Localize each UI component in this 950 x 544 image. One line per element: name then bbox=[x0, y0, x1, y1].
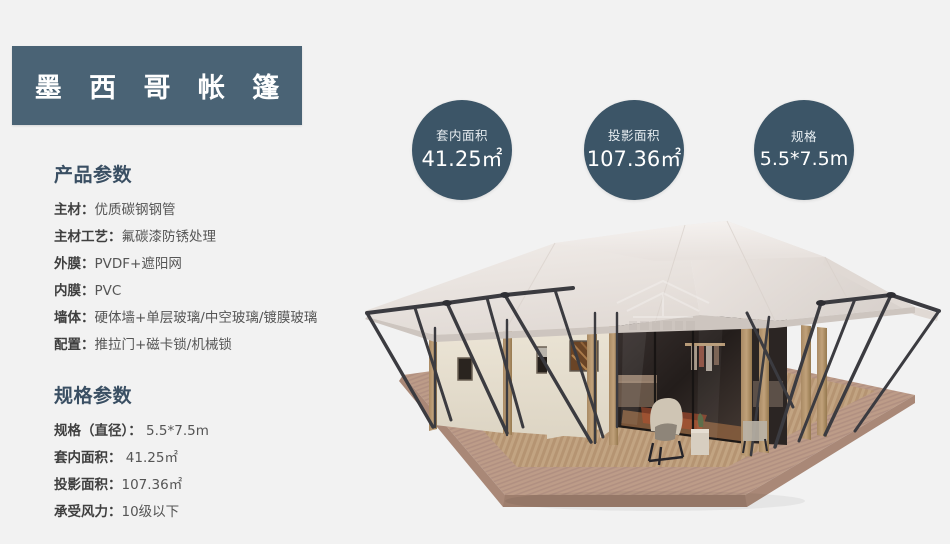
param-label: 承受风力： bbox=[54, 504, 122, 520]
param-value: PVC bbox=[95, 283, 122, 299]
param-value: 推拉门+磁卡锁/机械锁 bbox=[95, 337, 232, 353]
param-value: 优质碳钢钢管 bbox=[95, 202, 176, 218]
param-row: 墙体：硬体墙+单层玻璃/中空玻璃/镀膜玻璃 bbox=[54, 305, 364, 332]
param-label: 配置： bbox=[54, 337, 95, 353]
param-row: 内膜：PVC bbox=[54, 278, 364, 305]
param-label: 套内面积： bbox=[54, 450, 122, 466]
stat-badge-label: 规格 bbox=[791, 131, 817, 144]
stat-badge-dimensions: 规格 5.5*7.5m bbox=[754, 100, 854, 200]
param-value: 107.36㎡ bbox=[122, 477, 183, 493]
title-banner: 墨 西 哥 帐 篷 bbox=[12, 46, 302, 125]
stat-badge-value: 5.5*7.5m bbox=[760, 150, 848, 169]
page-title: 墨 西 哥 帐 篷 bbox=[26, 66, 289, 105]
param-label: 外膜： bbox=[54, 256, 95, 272]
stat-badge-label: 投影面积 bbox=[608, 130, 660, 143]
param-value: 10级以下 bbox=[122, 504, 180, 520]
param-row: 规格（直径）： 5.5*7.5m bbox=[54, 418, 364, 445]
param-value: PVDF+遮阳网 bbox=[95, 256, 182, 272]
param-row: 套内面积： 41.25㎡ bbox=[54, 445, 364, 472]
param-label: 主材工艺： bbox=[54, 229, 122, 245]
param-row: 外膜：PVDF+遮阳网 bbox=[54, 251, 364, 278]
stat-badges: 套内面积 41.25㎡ 投影面积 107.36㎡ 规格 5.5*7.5m bbox=[412, 100, 882, 204]
param-label: 规格（直径）： bbox=[54, 423, 142, 439]
stat-badge-indoor-area: 套内面积 41.25㎡ bbox=[412, 100, 512, 200]
param-value: 41.25㎡ bbox=[122, 450, 178, 466]
stat-badge-projected-area: 投影面积 107.36㎡ bbox=[584, 100, 684, 200]
specification-params-heading: 规格参数 bbox=[54, 381, 364, 408]
slide-root: 墨 西 哥 帐 篷 产品参数 主材：优质碳钢钢管 主材工艺：氟碳漆防锈处理 外膜… bbox=[0, 0, 950, 534]
param-row: 投影面积：107.36㎡ bbox=[54, 472, 364, 499]
spec-panel: 产品参数 主材：优质碳钢钢管 主材工艺：氟碳漆防锈处理 外膜：PVDF+遮阳网 … bbox=[54, 160, 364, 544]
product-params-heading: 产品参数 bbox=[54, 160, 364, 187]
param-row: 配置：推拉门+磁卡锁/机械锁 bbox=[54, 332, 364, 359]
param-row: 主材：优质碳钢钢管 bbox=[54, 197, 364, 224]
param-value: 5.5*7.5m bbox=[142, 423, 209, 439]
param-label: 主材： bbox=[54, 202, 95, 218]
param-value: 氟碳漆防锈处理 bbox=[122, 229, 217, 245]
stat-badge-value: 107.36㎡ bbox=[587, 149, 681, 170]
param-row: 主材工艺：氟碳漆防锈处理 bbox=[54, 224, 364, 251]
tent-render-image bbox=[355, 195, 950, 534]
param-value: 硬体墙+单层玻璃/中空玻璃/镀膜玻璃 bbox=[95, 310, 318, 326]
stat-badge-value: 41.25㎡ bbox=[421, 149, 502, 170]
param-label: 内膜： bbox=[54, 283, 95, 299]
product-params-section: 产品参数 主材：优质碳钢钢管 主材工艺：氟碳漆防锈处理 外膜：PVDF+遮阳网 … bbox=[54, 160, 364, 359]
param-label: 投影面积： bbox=[54, 477, 122, 493]
stat-badge-label: 套内面积 bbox=[436, 130, 488, 143]
param-label: 墙体： bbox=[54, 310, 95, 326]
specification-params-section: 规格参数 规格（直径）： 5.5*7.5m 套内面积： 41.25㎡ 投影面积：… bbox=[54, 381, 364, 526]
tent-roof-canopy bbox=[365, 221, 939, 342]
param-row: 承受风力：10级以下 bbox=[54, 499, 364, 526]
